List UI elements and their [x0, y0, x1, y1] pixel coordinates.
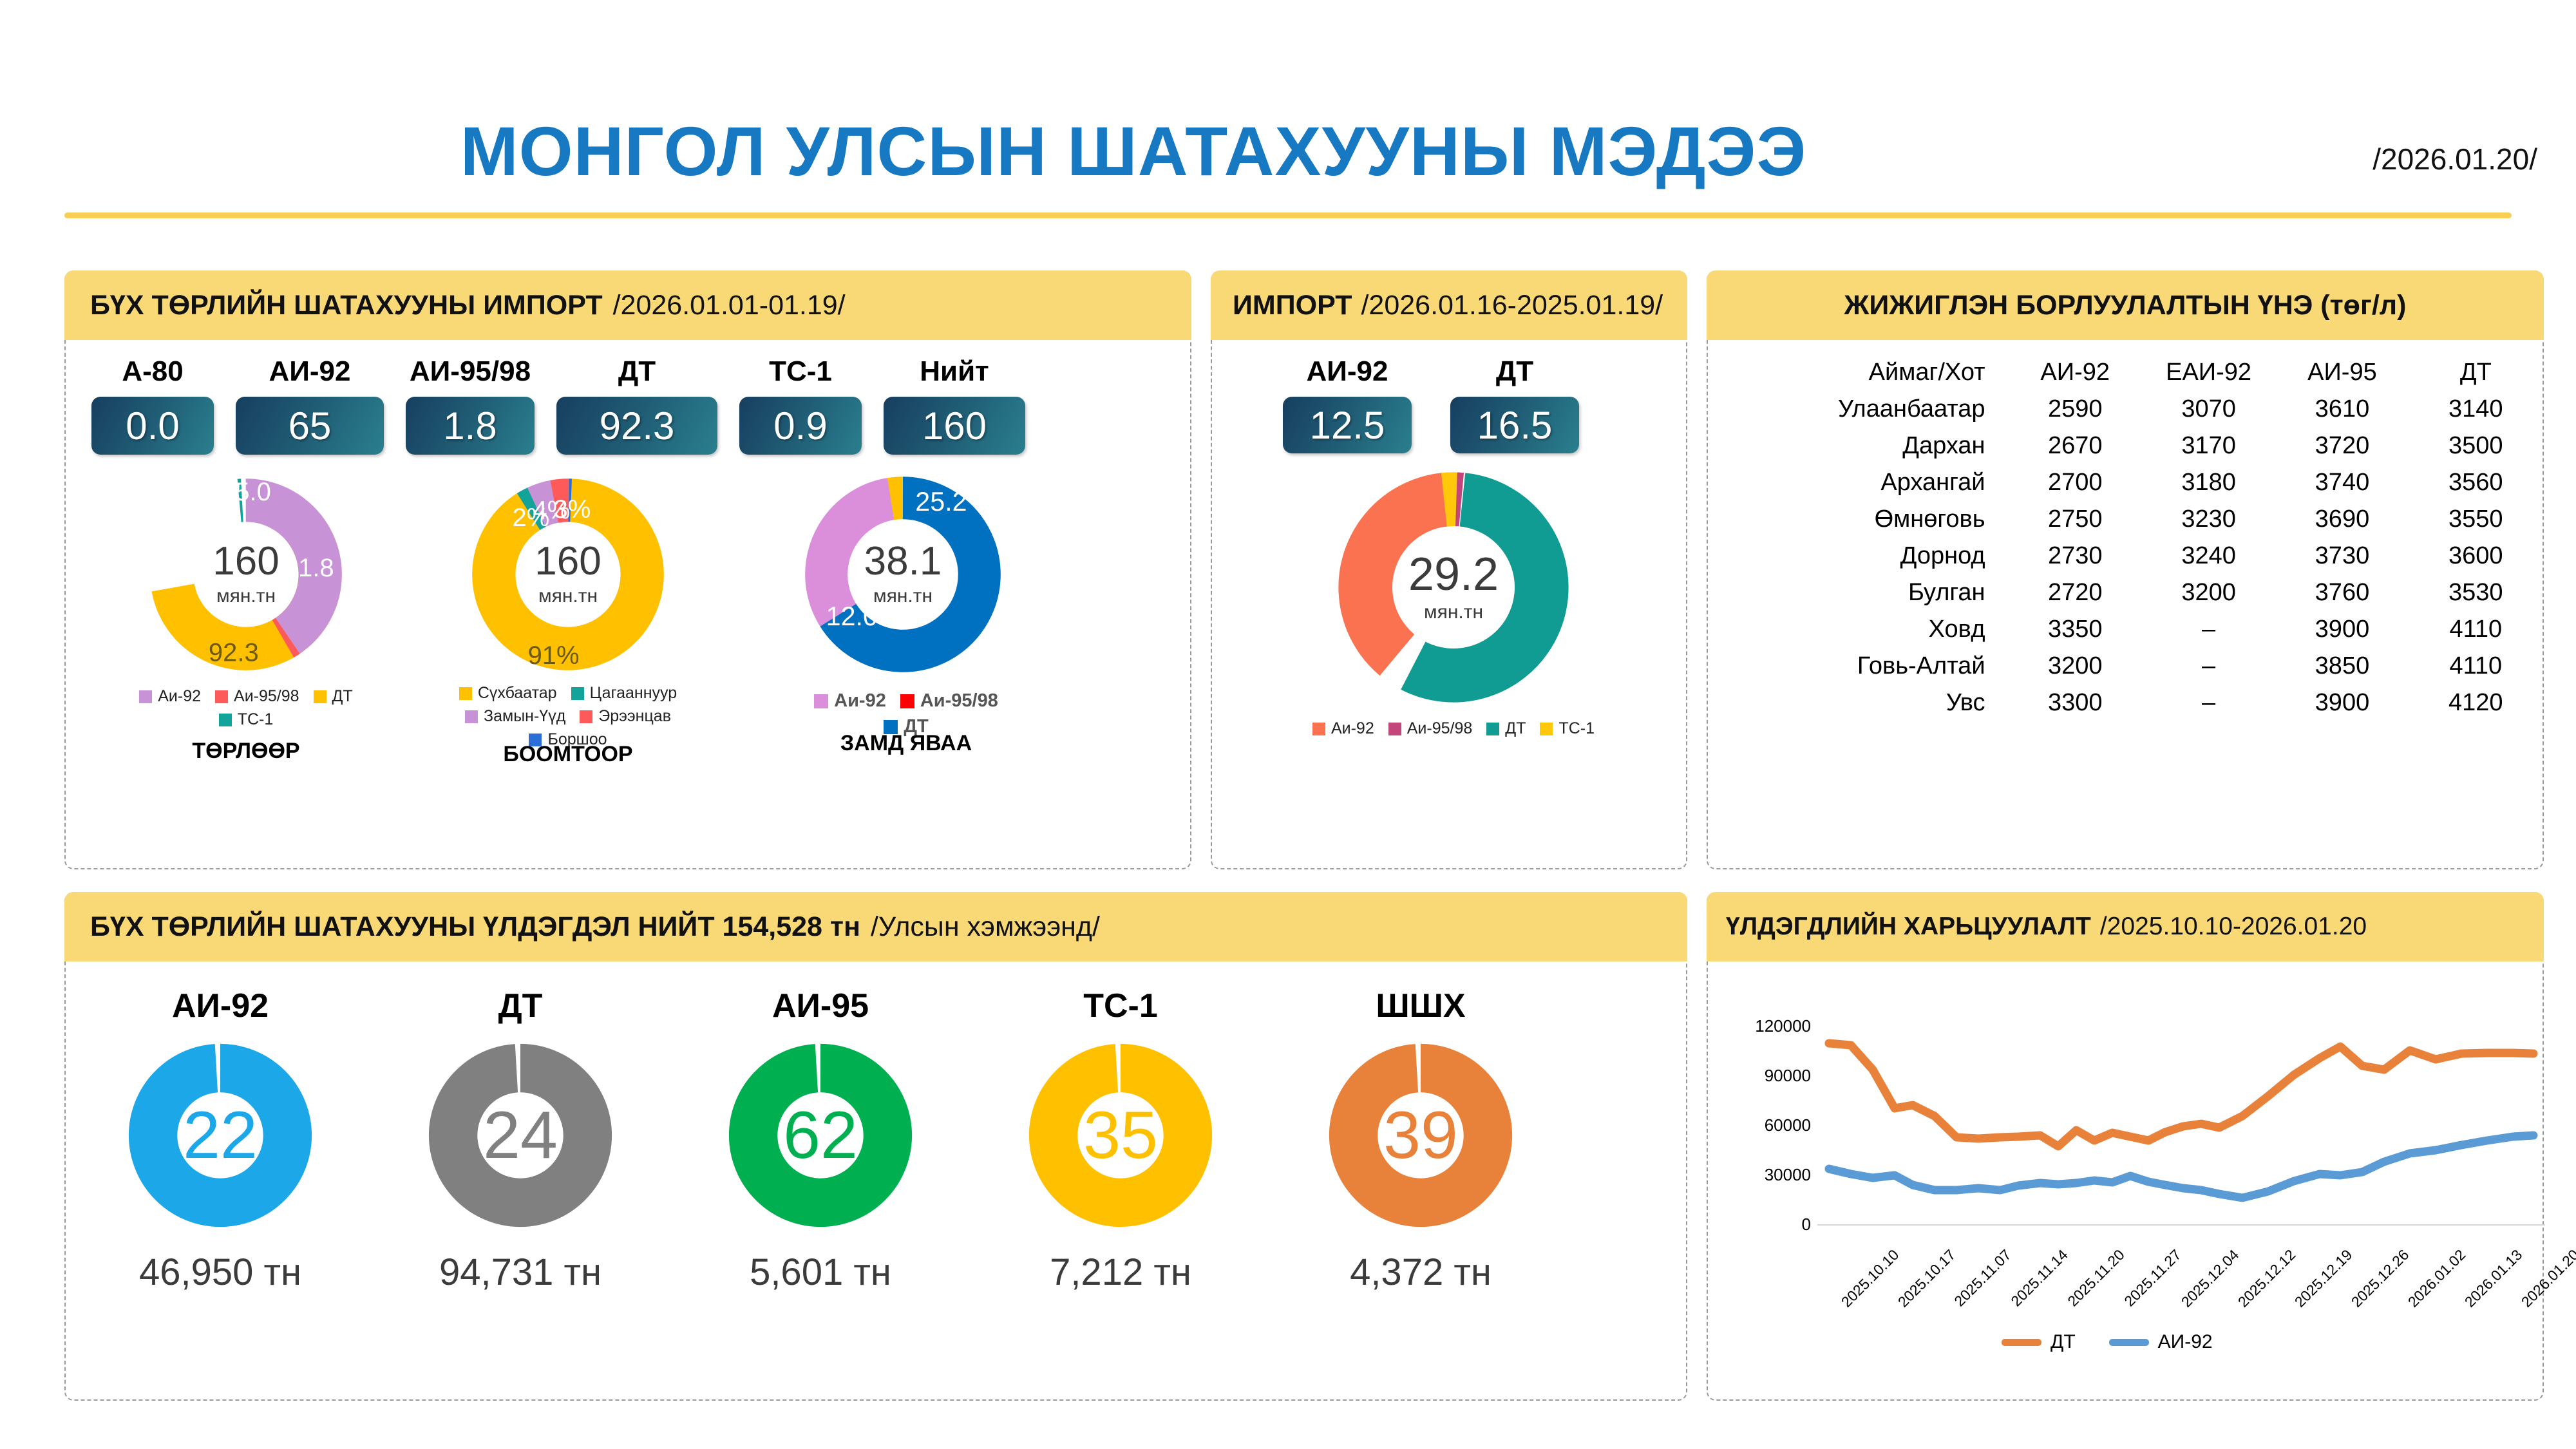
- kpi-a80-box: 0.0: [91, 397, 214, 455]
- legend-swatch-dt: [314, 690, 327, 703]
- col-eai92: ЕАИ-92: [2142, 354, 2275, 391]
- import-panel-title: БҮХ ТӨРЛИЙН ШАТАХУУНЫ ИМПОРТ: [90, 290, 603, 321]
- kpi-dt-box: 92.3: [556, 397, 717, 455]
- page-title: МОНГОЛ УЛСЫН ШАТАХУУНЫ МЭДЭЭ: [0, 111, 2267, 191]
- gauge-ai95: АИ-95 62 5,601 тн: [705, 987, 936, 1294]
- donut-type-caption: ТӨРЛӨӨР: [117, 739, 375, 764]
- legend-swatch-ai92: [1312, 723, 1325, 735]
- donut-type-label-dt: 92.3: [209, 638, 259, 667]
- legend-swatch-ai92: [139, 690, 152, 703]
- donut-type-label-ai9598: 1.8: [298, 554, 334, 582]
- gauge-dt: ДТ 24 94,731 тн: [404, 987, 636, 1294]
- xtick: 2025.12.04: [2178, 1246, 2242, 1311]
- gauge-shshkh-total: 4,372 тн: [1350, 1251, 1492, 1294]
- import-kpi-row: А-80 0.0 АИ-92 65 АИ-95/98 1.8 ДТ 92.3 Т…: [91, 355, 1025, 455]
- legend-item: АИ-92: [2109, 1331, 2213, 1353]
- donut-port-label-ereentsav: 3%: [553, 495, 591, 524]
- kpi-ai92: АИ-92 65: [236, 355, 384, 455]
- gauge-ts1: ТС-1 35 7,212 тн: [1005, 987, 1236, 1294]
- gauge-ts1-days: 35: [1027, 1042, 1214, 1229]
- weekly-kpi-dt-label: ДТ: [1496, 355, 1533, 388]
- table-row: Улаанбаатар2590307036103140: [1708, 391, 2543, 428]
- legend-swatch-ts1: [219, 714, 232, 726]
- legend-swatch-ai9598: [900, 694, 914, 708]
- donut-by-type: 65.0 1.8 92.3 0.9 160 мян.тн Аи-92 Аи-95…: [143, 471, 349, 677]
- stock-panel: БҮХ ТӨРЛИЙН ШАТАХУУНЫ ҮЛДЭГДЭЛ НИЙТ 154,…: [64, 892, 1687, 1401]
- kpi-ai92-label: АИ-92: [269, 355, 351, 388]
- kpi-a80: А-80 0.0: [91, 355, 214, 455]
- trend-plot: [1817, 1013, 2545, 1226]
- weekly-kpi-ai92: АИ-92 12.5: [1283, 355, 1412, 453]
- xtick: 2025.11.14: [2007, 1246, 2071, 1310]
- legend-swatch-ai9598: [1388, 723, 1401, 735]
- donut-type-label-ai92: 65.0: [221, 478, 271, 506]
- gauge-ts1-label: ТС-1: [1083, 987, 1158, 1025]
- table-row: Дархан2670317037203500: [1708, 428, 2543, 464]
- ytick-90000: 90000: [1714, 1066, 1811, 1086]
- legend-item: ТС-1: [1540, 719, 1595, 738]
- table-row: Булган2720320037603530: [1708, 574, 2543, 611]
- col-ai95: АИ-95: [2275, 354, 2409, 391]
- col-region: Аймаг/Хот: [1708, 354, 2009, 391]
- gauge-ai95-label: АИ-95: [772, 987, 869, 1025]
- donut-type-label-ts1: 0.9: [159, 544, 195, 572]
- legend-item: Аи-92: [814, 690, 886, 712]
- xtick: 2025.11.27: [2121, 1246, 2184, 1310]
- legend-swatch-sukhbaatar: [459, 687, 472, 700]
- donut-port-caption: БООМТООР: [436, 742, 700, 767]
- import-panel: БҮХ ТӨРЛИЙН ШАТАХУУНЫ ИМПОРТ /2026.01.01…: [64, 270, 1191, 869]
- kpi-total-box: 160: [884, 397, 1025, 455]
- ytick-120000: 120000: [1714, 1016, 1811, 1036]
- page-header: МОНГОЛ УЛСЫН ШАТАХУУНЫ МЭДЭЭ /2026.01.20…: [0, 97, 2576, 213]
- legend-item: Аи-95/98: [900, 690, 998, 712]
- gauge-ai92-ring: 22: [127, 1042, 314, 1229]
- legend-swatch-ai92: [2109, 1339, 2149, 1346]
- kpi-dt: ДТ 92.3: [556, 355, 717, 455]
- legend-item: ТС-1: [219, 710, 274, 729]
- legend-item: Эрээнцав: [580, 707, 671, 726]
- gauge-ai95-total: 5,601 тн: [750, 1251, 891, 1294]
- legend-item: Аи-92: [139, 687, 201, 706]
- col-ai92: АИ-92: [2009, 354, 2142, 391]
- legend-item: Сүхбаатар: [459, 684, 557, 703]
- weekly-import-title: ИМПОРТ: [1233, 290, 1352, 321]
- trend-panel-range: /2025.10.10-2026.01.20: [2100, 913, 2367, 941]
- donut-transit-label-dt: 25.2: [915, 487, 967, 516]
- table-header-row: Аймаг/Хот АИ-92 ЕАИ-92 АИ-95 ДТ: [1708, 354, 2543, 391]
- legend-item: ДТ: [2002, 1331, 2076, 1353]
- col-dt: ДТ: [2409, 354, 2543, 391]
- gauge-ai92-total: 46,950 тн: [139, 1251, 301, 1294]
- weekly-kpi-ai92-box: 12.5: [1283, 397, 1412, 453]
- price-table: Аймаг/Хот АИ-92 ЕАИ-92 АИ-95 ДТ Улаанбаа…: [1708, 354, 2543, 721]
- legend-swatch-ereentsav: [580, 710, 592, 723]
- weekly-kpi-row: АИ-92 12.5 ДТ 16.5: [1283, 355, 1579, 453]
- ytick-0: 0: [1714, 1215, 1811, 1235]
- xtick: 2025.10.10: [1838, 1246, 1902, 1311]
- stock-panel-range: /Улсын хэмжээнд/: [871, 911, 1100, 943]
- donut-type-legend: Аи-92 Аи-95/98 ДТ ТС-1: [117, 687, 375, 734]
- legend-item: ДТ: [314, 687, 353, 706]
- gauge-ai92: АИ-92 22 46,950 тн: [104, 987, 336, 1294]
- gauge-dt-label: ДТ: [498, 987, 543, 1025]
- legend-item: Цагааннуур: [571, 684, 677, 703]
- xtick: 2025.12.19: [2291, 1246, 2356, 1311]
- price-panel-header: ЖИЖИГЛЭН БОРЛУУЛАЛТЫН ҮНЭ (төг/л): [1707, 270, 2544, 340]
- title-divider: [64, 213, 2512, 218]
- gauge-shshkh-label: ШШХ: [1376, 987, 1465, 1025]
- legend-item: Аи-95/98: [1388, 719, 1473, 738]
- ytick-60000: 60000: [1714, 1115, 1811, 1135]
- xtick: 2025.10.17: [1895, 1246, 1959, 1311]
- weekly-donut-legend: Аи-92 Аи-95/98 ДТ ТС-1: [1283, 719, 1624, 743]
- gauge-dt-ring: 24: [427, 1042, 614, 1229]
- gauge-ai95-ring: 62: [727, 1042, 914, 1229]
- gauge-ai92-days: 22: [127, 1042, 314, 1229]
- trend-panel-title: ҮЛДЭГДЛИЙН ХАРЬЦУУЛАЛТ: [1726, 913, 2091, 941]
- legend-swatch-dt: [1486, 723, 1499, 735]
- weekly-import-panel: ИМПОРТ /2026.01.16-2025.01.19/ АИ-92 12.…: [1211, 270, 1687, 869]
- ytick-30000: 30000: [1714, 1165, 1811, 1185]
- gauge-dt-days: 24: [427, 1042, 614, 1229]
- stock-panel-header: БҮХ ТӨРЛИЙН ШАТАХУУНЫ ҮЛДЭГДЭЛ НИЙТ 154,…: [64, 892, 1687, 961]
- gauge-ai95-days: 62: [727, 1042, 914, 1229]
- xtick: 2026.01.20: [2518, 1246, 2576, 1311]
- kpi-ts1-box: 0.9: [739, 397, 862, 455]
- legend-swatch-ai92: [814, 694, 828, 708]
- gauge-shshkh-ring: 39: [1327, 1042, 1514, 1229]
- donut-by-port: 2% 4% 3% 91% 160 мян.тн Сүхбаатар Цагаан…: [465, 471, 671, 677]
- weekly-donut: 29.2 мян.тн Аи-92 Аи-95/98 ДТ ТС-1: [1331, 465, 1576, 710]
- gauge-ai92-label: АИ-92: [172, 987, 269, 1025]
- report-date: /2026.01.20/: [2372, 142, 2537, 176]
- stock-gauge-row: АИ-92 22 46,950 тн ДТ 24 94,731 тн: [104, 987, 1537, 1294]
- legend-swatch-tsagaannuur: [571, 687, 584, 700]
- kpi-ai9598: АИ-95/98 1.8: [406, 355, 535, 455]
- kpi-dt-label: ДТ: [618, 355, 656, 388]
- legend-swatch-ts1: [1540, 723, 1553, 735]
- trend-chart: 120000 90000 60000 30000 0 2025.10.10 20…: [1708, 963, 2545, 1401]
- xtick: 2025.11.20: [2064, 1246, 2128, 1310]
- table-row: Увс3300–39004120: [1708, 685, 2543, 721]
- table-row: Дорнод2730324037303600: [1708, 538, 2543, 574]
- kpi-ai9598-label: АИ-95/98: [410, 355, 531, 388]
- weekly-kpi-dt: ДТ 16.5: [1450, 355, 1579, 453]
- dashboard-root: МОНГОЛ УЛСЫН ШАТАХУУНЫ МЭДЭЭ /2026.01.20…: [0, 0, 2576, 1449]
- kpi-a80-label: А-80: [122, 355, 183, 388]
- donut-in-transit: 25.2 12.0 38.1 мян.тн Аи-92 Аи-95/98 ДТ …: [797, 468, 1009, 681]
- donut-transit-label-ai92: 12.0: [826, 601, 878, 631]
- gauge-dt-total: 94,731 тн: [439, 1251, 601, 1294]
- table-row: Өмнөговь2750323036903550: [1708, 501, 2543, 538]
- gauge-ts1-ring: 35: [1027, 1042, 1214, 1229]
- legend-item: Замын-Үүд: [465, 707, 565, 726]
- legend-swatch-zamyn-uud: [465, 710, 478, 723]
- table-row: Говь-Алтай3200–38504110: [1708, 648, 2543, 685]
- kpi-total: Нийт 160: [884, 355, 1025, 455]
- weekly-import-header: ИМПОРТ /2026.01.16-2025.01.19/: [1211, 270, 1687, 340]
- import-panel-range: /2026.01.01-01.19/: [613, 290, 846, 321]
- xtick: 2026.01.13: [2461, 1246, 2526, 1311]
- trend-panel-header: ҮЛДЭГДЛИЙН ХАРЬЦУУЛАЛТ /2025.10.10-2026.…: [1707, 892, 2544, 961]
- kpi-ts1-label: ТС-1: [769, 355, 832, 388]
- donut-transit-caption: ЗАМД ЯВАА: [784, 731, 1028, 756]
- stock-panel-title: БҮХ ТӨРЛИЙН ШАТАХУУНЫ ҮЛДЭГДЭЛ НИЙТ 154,…: [90, 911, 860, 943]
- legend-swatch-dt: [2002, 1339, 2041, 1346]
- legend-item: Аи-92: [1312, 719, 1374, 738]
- gauge-shshkh-days: 39: [1327, 1042, 1514, 1229]
- table-row: Архангай2700318037403560: [1708, 464, 2543, 501]
- weekly-kpi-ai92-label: АИ-92: [1307, 355, 1388, 388]
- price-panel: ЖИЖИГЛЭН БОРЛУУЛАЛТЫН ҮНЭ (төг/л) Аймаг/…: [1707, 270, 2544, 869]
- price-panel-title: ЖИЖИГЛЭН БОРЛУУЛАЛТЫН ҮНЭ (төг/л): [1844, 290, 2407, 321]
- donut-port-label-sukhbaatar: 91%: [528, 641, 580, 670]
- kpi-ai9598-box: 1.8: [406, 397, 535, 455]
- legend-swatch-ai9598: [215, 690, 228, 703]
- xtick: 2026.01.02: [2405, 1246, 2469, 1311]
- table-row: Ховд3350–39004110: [1708, 611, 2543, 648]
- trend-legend: ДТ АИ-92: [1985, 1331, 2230, 1353]
- legend-item: ДТ: [1486, 719, 1526, 738]
- trend-panel: ҮЛДЭГДЛИЙН ХАРЬЦУУЛАЛТ /2025.10.10-2026.…: [1707, 892, 2544, 1401]
- gauge-ts1-total: 7,212 тн: [1050, 1251, 1191, 1294]
- legend-item: Аи-95/98: [215, 687, 299, 706]
- kpi-ai92-box: 65: [236, 397, 384, 455]
- weekly-kpi-dt-box: 16.5: [1450, 397, 1579, 453]
- xtick: 2025.12.12: [2235, 1246, 2299, 1311]
- import-panel-header: БҮХ ТӨРЛИЙН ШАТАХУУНЫ ИМПОРТ /2026.01.01…: [64, 270, 1191, 340]
- xtick: 2025.11.07: [1951, 1246, 2014, 1310]
- weekly-import-range: /2026.01.16-2025.01.19/: [1361, 290, 1663, 321]
- xtick: 2025.12.26: [2348, 1246, 2412, 1311]
- kpi-ts1: ТС-1 0.9: [739, 355, 862, 455]
- gauge-shshkh: ШШХ 39 4,372 тн: [1305, 987, 1537, 1294]
- kpi-total-label: Нийт: [920, 355, 989, 388]
